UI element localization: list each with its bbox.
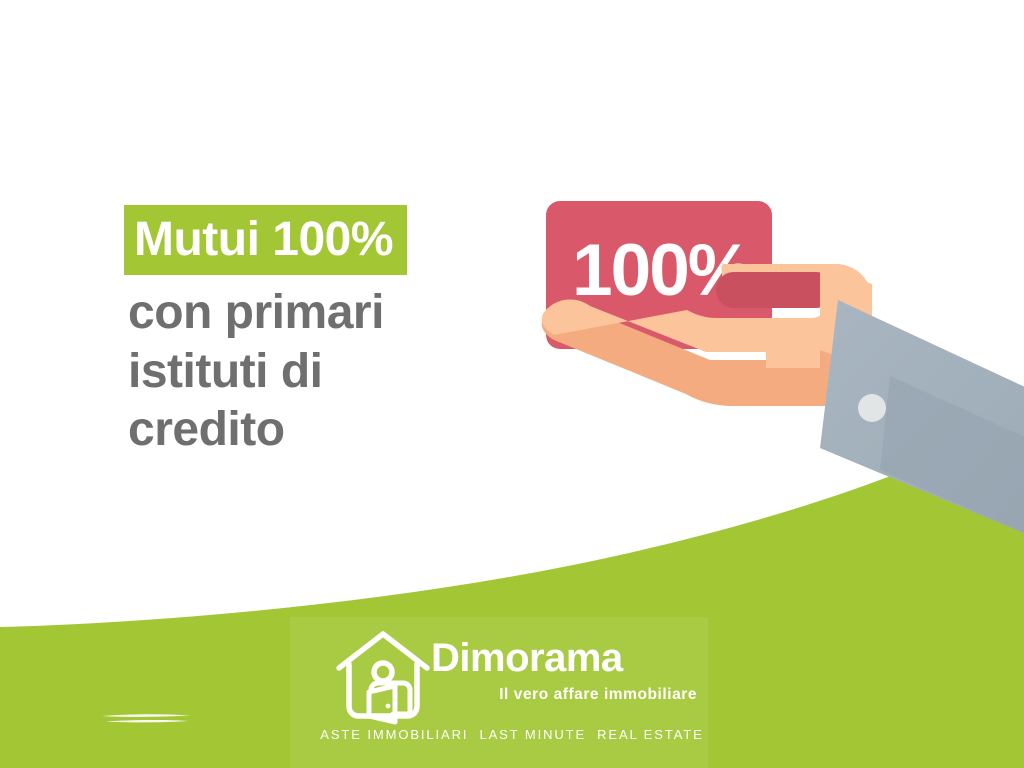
house-icon <box>333 628 433 726</box>
logo-text-block: Dimorama Il vero affare immobiliare <box>431 638 699 703</box>
headline-highlight-wrap: Mutui 100% <box>124 205 524 275</box>
finger-gap-shadow <box>716 272 834 308</box>
headline-body: con primari istituti di credito <box>124 284 524 460</box>
headline-block: Mutui 100% con primari istituti di credi… <box>124 205 524 460</box>
shirt-sleeve <box>820 300 1024 540</box>
promo-banner: Mutui 100% con primari istituti di credi… <box>0 0 1024 768</box>
headline-line-1: con primari <box>128 284 524 343</box>
headline-line-2: istituti di <box>128 343 524 402</box>
underline-swash-icon <box>100 713 192 725</box>
brand-tagline: Il vero affare immobiliare <box>431 687 699 703</box>
headline-line-3: credito <box>128 401 524 460</box>
headline-highlight: Mutui 100% <box>124 205 407 275</box>
logo-footer-line: ASTE IMMOBILIARI LAST MINUTE REAL ESTATE <box>0 728 1024 741</box>
brand-wordmark: Dimorama <box>431 638 699 678</box>
sleeve-button-icon <box>858 394 886 422</box>
hand-holding-card-illustration: 100% <box>520 180 1024 540</box>
